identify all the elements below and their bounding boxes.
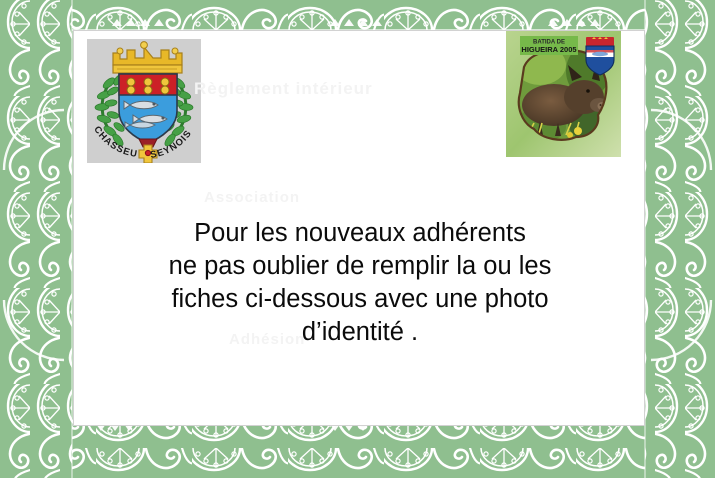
border-band-top — [0, 0, 715, 30]
body-text-line-2: ne pas oublier de remplir la ou les — [74, 250, 646, 283]
ghost-text-2: Association — [204, 189, 300, 206]
ghost-text-1: Règlement intérieur — [194, 79, 373, 99]
body-text-line-4: d’identité . — [74, 316, 646, 349]
presentation-slide: CHASSEURS SEYNOIS — [0, 0, 715, 478]
boar-caption-box: BATIDA DE HIGUEIRA 2005 — [520, 36, 578, 55]
heraldic-shield-badge — [586, 37, 614, 75]
border-band-left — [0, 0, 72, 478]
body-text-line-1: Pour les nouveaux adhérents — [74, 217, 646, 250]
wild-boar-photo: BATIDA DE HIGUEIRA 2005 — [506, 31, 621, 157]
boar-caption-line2: HIGUEIRA 2005 — [521, 45, 576, 54]
border-band-bottom — [0, 420, 715, 478]
border-band-right — [645, 0, 715, 478]
content-panel: CHASSEURS SEYNOIS — [73, 30, 645, 426]
chasseurs-seynois-crest-icon: CHASSEURS SEYNOIS — [87, 39, 201, 163]
body-text-block: Pour les nouveaux adhérents ne pas oubli… — [74, 217, 646, 349]
body-text-line-3: fiches ci-dessous avec une photo — [74, 283, 646, 316]
